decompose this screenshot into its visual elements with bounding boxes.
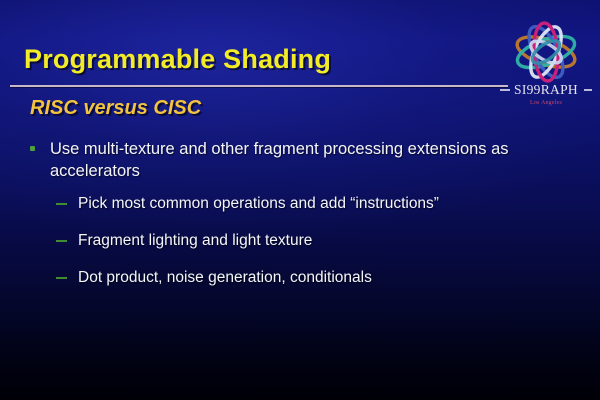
list-item-label: Pick most common operations and add “ins…: [78, 195, 439, 212]
dash-bullet-icon: [56, 203, 67, 205]
list-item-label: Fragment lighting and light texture: [78, 232, 312, 249]
page-title: Programmable Shading: [24, 44, 331, 75]
list-item: Use multi-texture and other fragment pro…: [26, 138, 584, 182]
logo-location: Los Angeles: [530, 100, 562, 106]
dash-bullet-icon: [56, 240, 67, 242]
bullet-list: Use multi-texture and other fragment pro…: [26, 138, 584, 305]
square-bullet-icon: [30, 146, 35, 151]
siggraph-logo: SI99RAPH Los Angeles: [498, 14, 594, 106]
list-item: Fragment lighting and light texture: [56, 231, 584, 251]
list-item-label: Use multi-texture and other fragment pro…: [50, 140, 509, 180]
title-divider: [10, 85, 508, 87]
dash-bullet-icon: [56, 277, 67, 279]
logo-wordmark: SI99RAPH: [514, 82, 578, 97]
slide-subtitle: RISC versus CISC: [30, 97, 201, 120]
slide-canvas: Programmable Shading RISC versus CISC Us…: [0, 0, 600, 400]
list-item: Pick most common operations and add “ins…: [56, 194, 584, 214]
list-item-label: Dot product, noise generation, condition…: [78, 269, 372, 286]
list-item: Dot product, noise generation, condition…: [56, 268, 584, 288]
